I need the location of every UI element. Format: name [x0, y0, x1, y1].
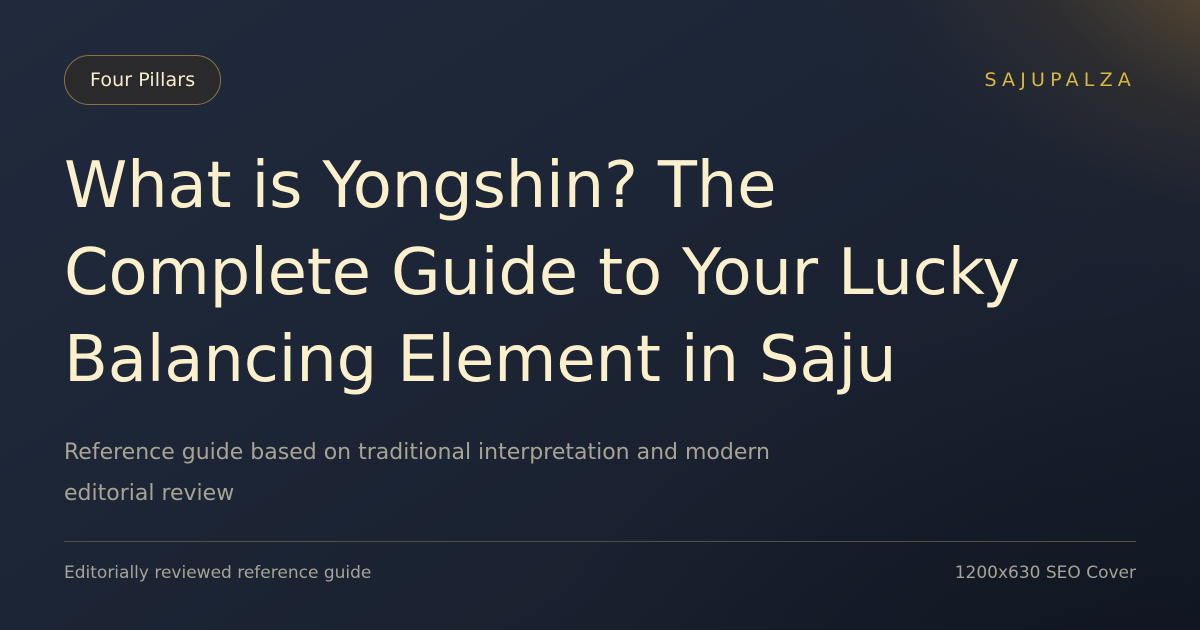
page-title: What is Yongshin? The Complete Guide to … [64, 104, 1024, 404]
footer-divider [64, 541, 1136, 542]
footer-row: Editorially reviewed reference guide 120… [64, 542, 1136, 584]
cover-header: Four Pillars SAJUPALZA [64, 56, 1136, 104]
cover-content: Four Pillars SAJUPALZA What is Yongshin?… [0, 0, 1200, 630]
seo-cover-card: Four Pillars SAJUPALZA What is Yongshin?… [0, 0, 1200, 630]
footer-left-note: Editorially reviewed reference guide [64, 562, 371, 584]
cover-footer: Editorially reviewed reference guide 120… [64, 541, 1136, 630]
footer-right-note: 1200x630 SEO Cover [955, 562, 1136, 584]
category-badge: Four Pillars [64, 55, 221, 105]
page-subtitle: Reference guide based on traditional int… [64, 404, 864, 514]
brand-wordmark: SAJUPALZA [984, 69, 1136, 91]
